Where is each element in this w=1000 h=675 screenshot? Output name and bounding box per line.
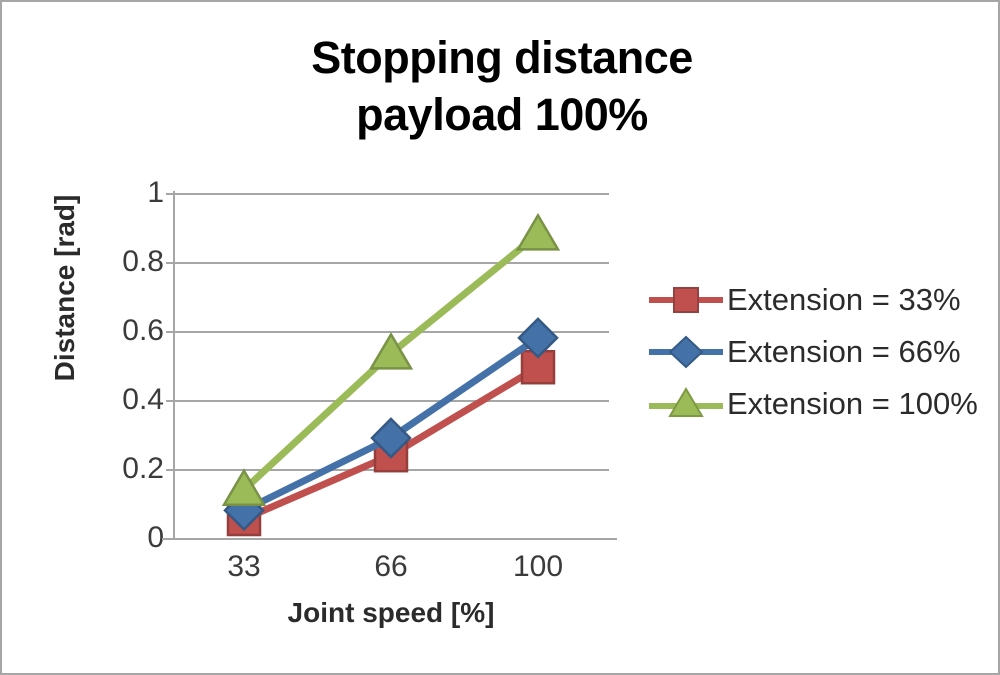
legend-key-triangle-icon — [647, 384, 725, 424]
gridline-1 — [173, 193, 609, 195]
legend-label-extension-66: Extension = 66% — [727, 334, 961, 370]
legend-entry-extension-66: Extension = 66% — [647, 326, 997, 378]
legend-key-square-icon — [647, 280, 725, 320]
gridline-0.4 — [173, 400, 609, 402]
legend-label-extension-100: Extension = 100% — [727, 386, 978, 422]
y-tick-label-5: 1 — [84, 176, 164, 210]
y-tick-label-1: 0.2 — [84, 452, 164, 486]
gridline-0.2 — [173, 469, 609, 471]
x-tick-label-100: 100 — [478, 550, 598, 584]
chart-legend: Extension = 33% Extension = 66% Extensio… — [647, 274, 997, 430]
y-axis-tick-labels: 0 0.2 0.4 0.6 0.8 1 — [52, 2, 164, 675]
legend-entry-extension-33: Extension = 33% — [647, 274, 997, 326]
y-tick-label-3: 0.6 — [84, 314, 164, 348]
y-tick-label-4: 0.8 — [84, 245, 164, 279]
x-tick-label-33: 33 — [184, 550, 304, 584]
x-axis-title: Joint speed [%] — [173, 597, 609, 629]
x-tick-label-66: 66 — [331, 550, 451, 584]
gridline-0.8 — [173, 262, 609, 264]
chart-image: Stopping distance payload 100% Distance … — [0, 0, 1000, 675]
plot-area — [173, 193, 609, 538]
gridline-0.6 — [173, 331, 609, 333]
x-axis-line — [162, 538, 617, 540]
y-tick-label-2: 0.4 — [84, 383, 164, 417]
legend-entry-extension-100: Extension = 100% — [647, 378, 997, 430]
legend-label-extension-33: Extension = 33% — [727, 282, 961, 318]
y-tick-label-0: 0 — [84, 521, 164, 555]
legend-key-diamond-icon — [647, 332, 725, 372]
